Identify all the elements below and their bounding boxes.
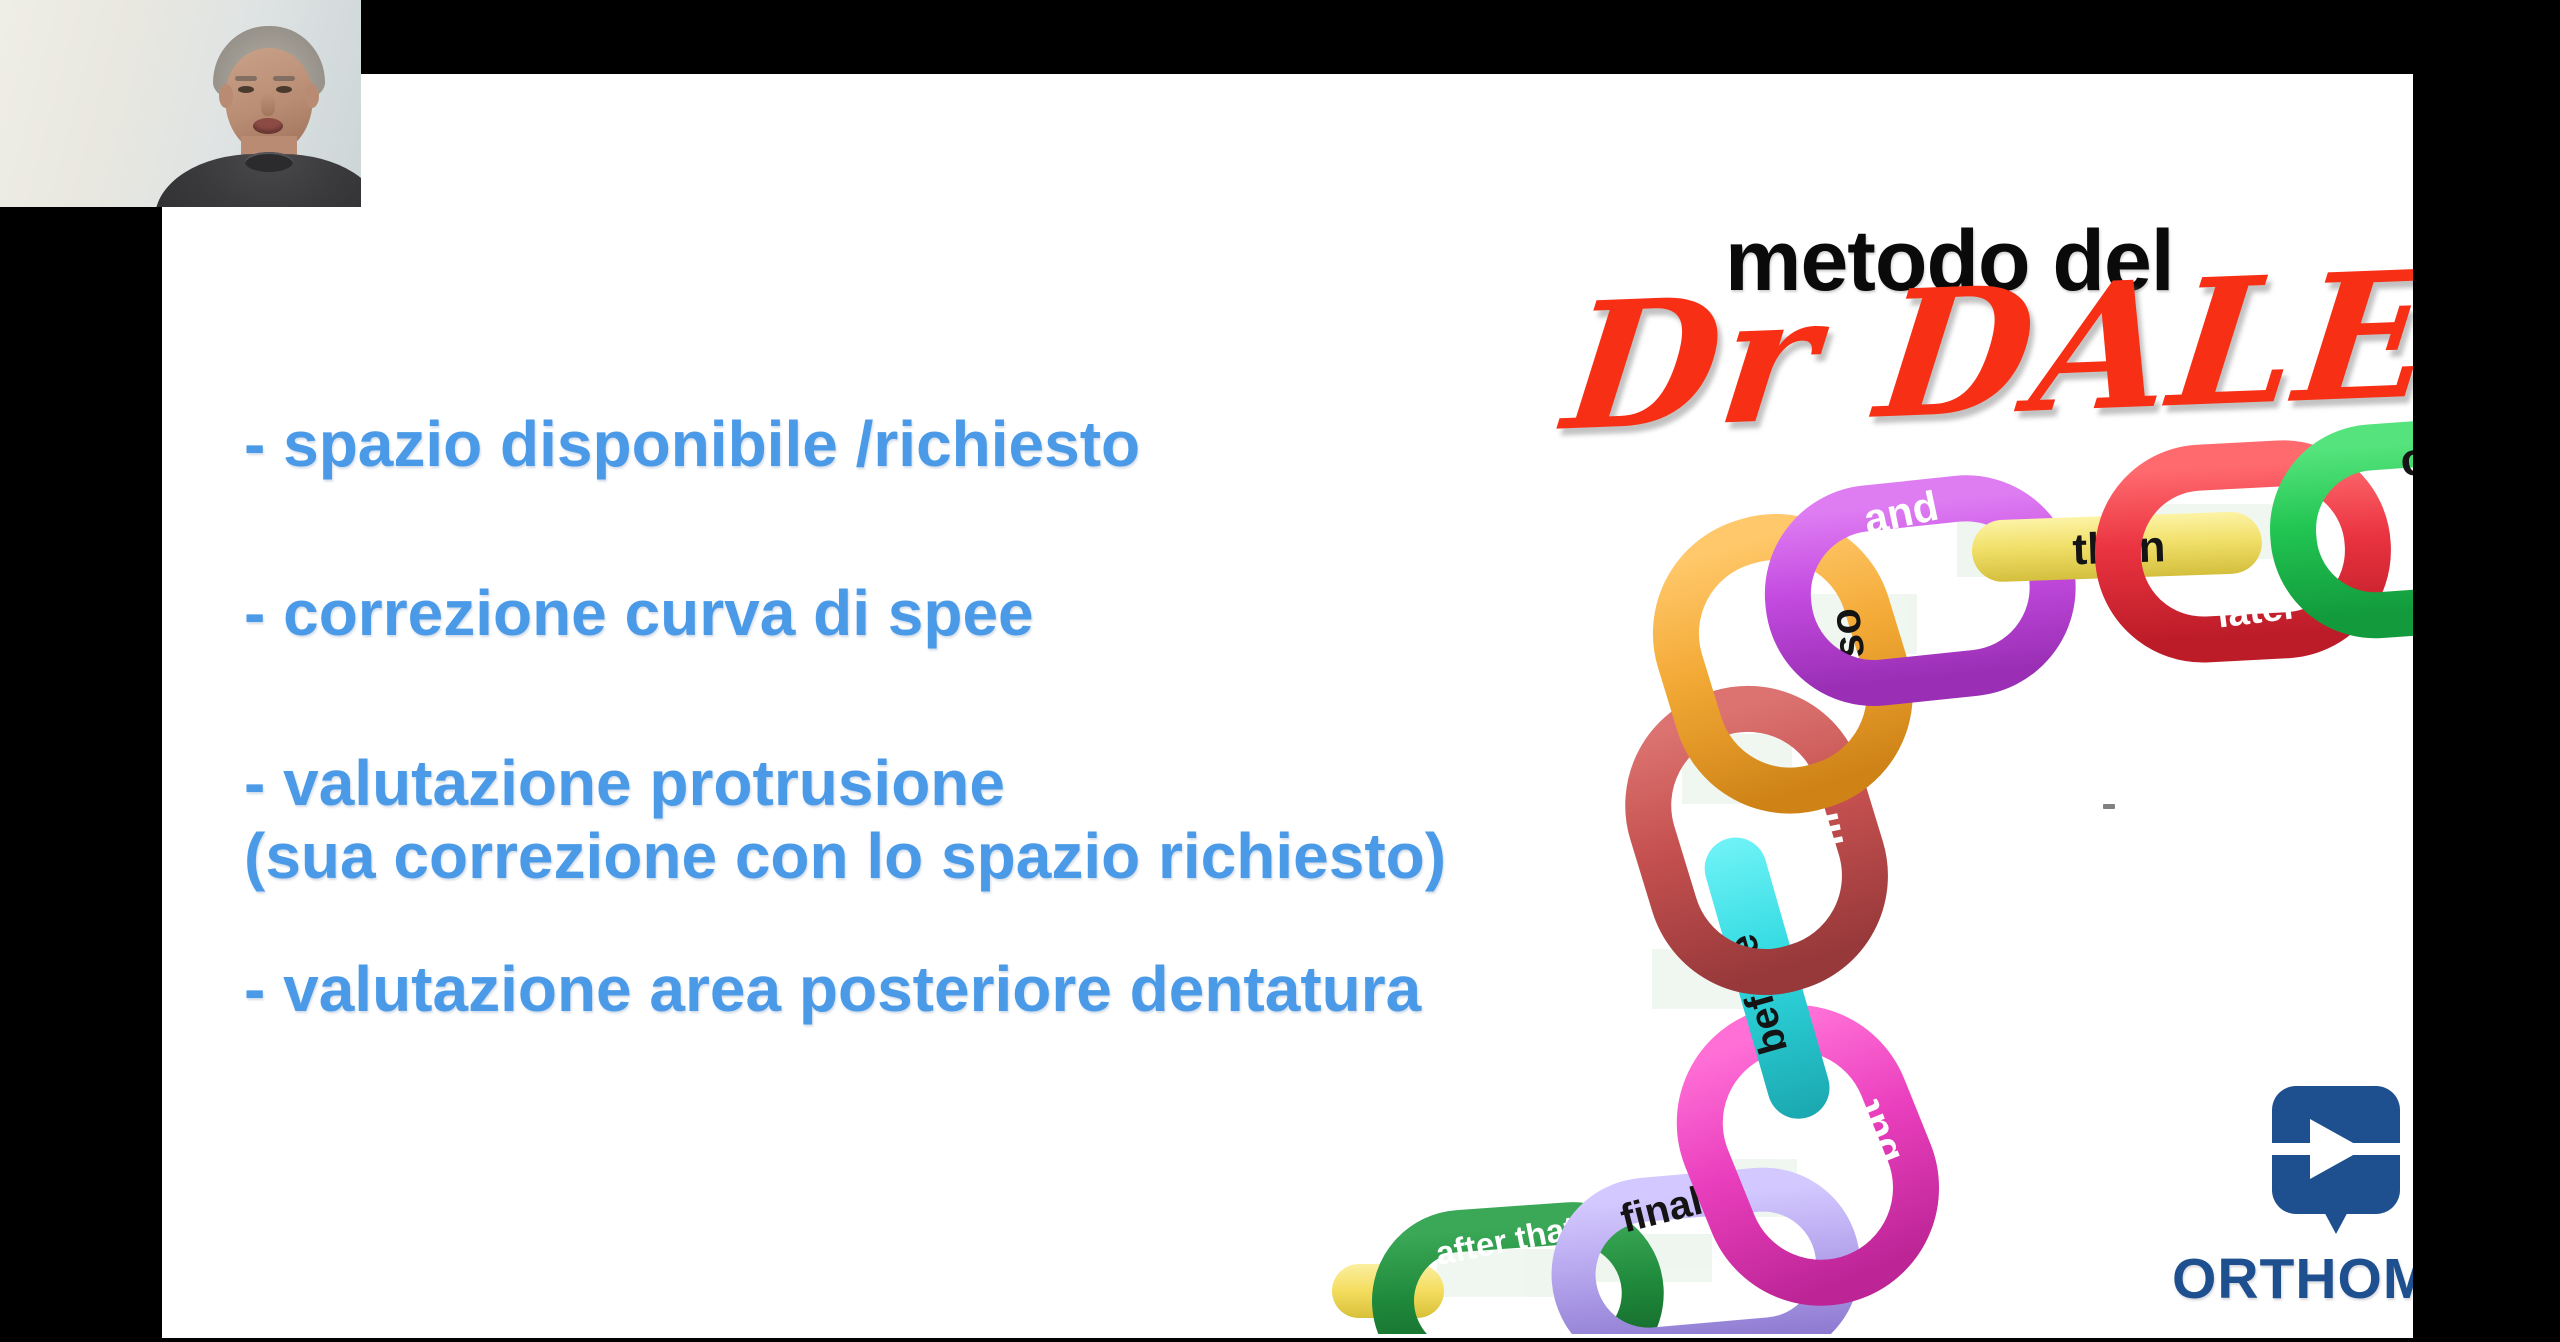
presentation-slide: metodo del Dr DALE - spazio disponibile … <box>162 74 2413 1338</box>
slide-dot-artifact <box>2103 804 2115 809</box>
presenter-brow-right <box>273 76 295 81</box>
logo-wordmark: ORTHOMAND <box>2172 1246 2413 1312</box>
presenter-brow-left <box>235 76 257 81</box>
presenter-ear-right <box>305 84 319 108</box>
presenter-mouth <box>253 118 283 134</box>
presenter-figure <box>169 26 362 207</box>
svg-text:or: or <box>2397 429 2413 487</box>
presenter-ear-left <box>219 84 233 108</box>
orthomand-logo: ORTHOMAND <box>2172 1086 2413 1318</box>
presenter-eye-left <box>238 86 254 93</box>
presenter-eye-right <box>276 86 292 93</box>
screen-root: metodo del Dr DALE - spazio disponibile … <box>0 0 2560 1342</box>
play-triangle-icon <box>2310 1119 2364 1179</box>
presenter-webcam-tile[interactable] <box>0 0 361 207</box>
presenter-nose <box>261 94 275 116</box>
presenter-collar <box>245 152 293 172</box>
bubble-tail-icon <box>2321 1206 2351 1234</box>
